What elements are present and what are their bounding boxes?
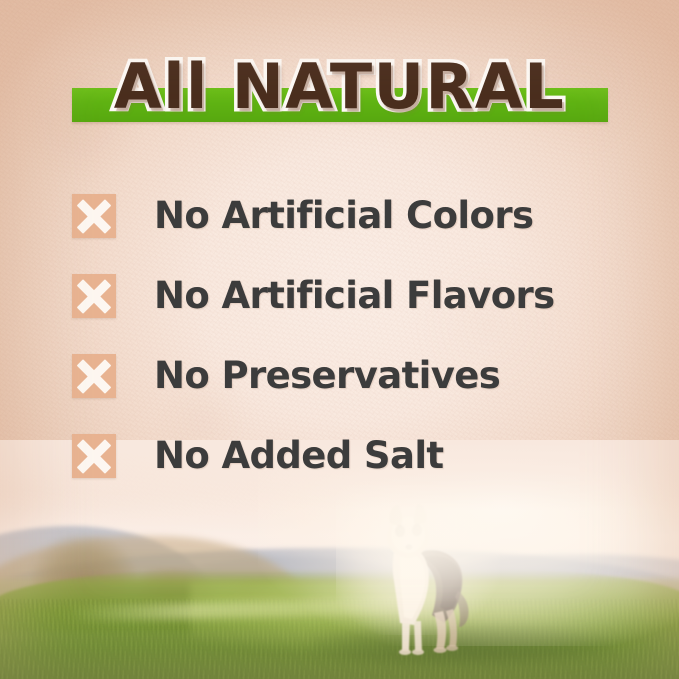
list-item: No Preservatives — [72, 336, 632, 416]
x-mark-icon — [72, 194, 116, 238]
list-item: No Added Salt — [72, 416, 632, 496]
page-title: All NATURAL — [0, 48, 679, 126]
headline-block: All NATURAL — [0, 48, 679, 134]
claim-label: No Artificial Colors — [154, 196, 533, 236]
list-item: No Artificial Colors — [72, 176, 632, 256]
claim-label: No Added Salt — [154, 436, 444, 476]
x-mark-icon — [72, 434, 116, 478]
list-item: No Artificial Flavors — [72, 256, 632, 336]
product-feature-banner: All NATURAL No Artificial Colors No Arti… — [0, 0, 679, 679]
claims-list: No Artificial Colors No Artificial Flavo… — [72, 176, 632, 496]
border-collie-dog — [362, 503, 474, 658]
x-mark-icon — [72, 274, 116, 318]
claim-label: No Artificial Flavors — [154, 276, 555, 316]
claim-label: No Preservatives — [154, 356, 500, 396]
x-mark-icon — [72, 354, 116, 398]
